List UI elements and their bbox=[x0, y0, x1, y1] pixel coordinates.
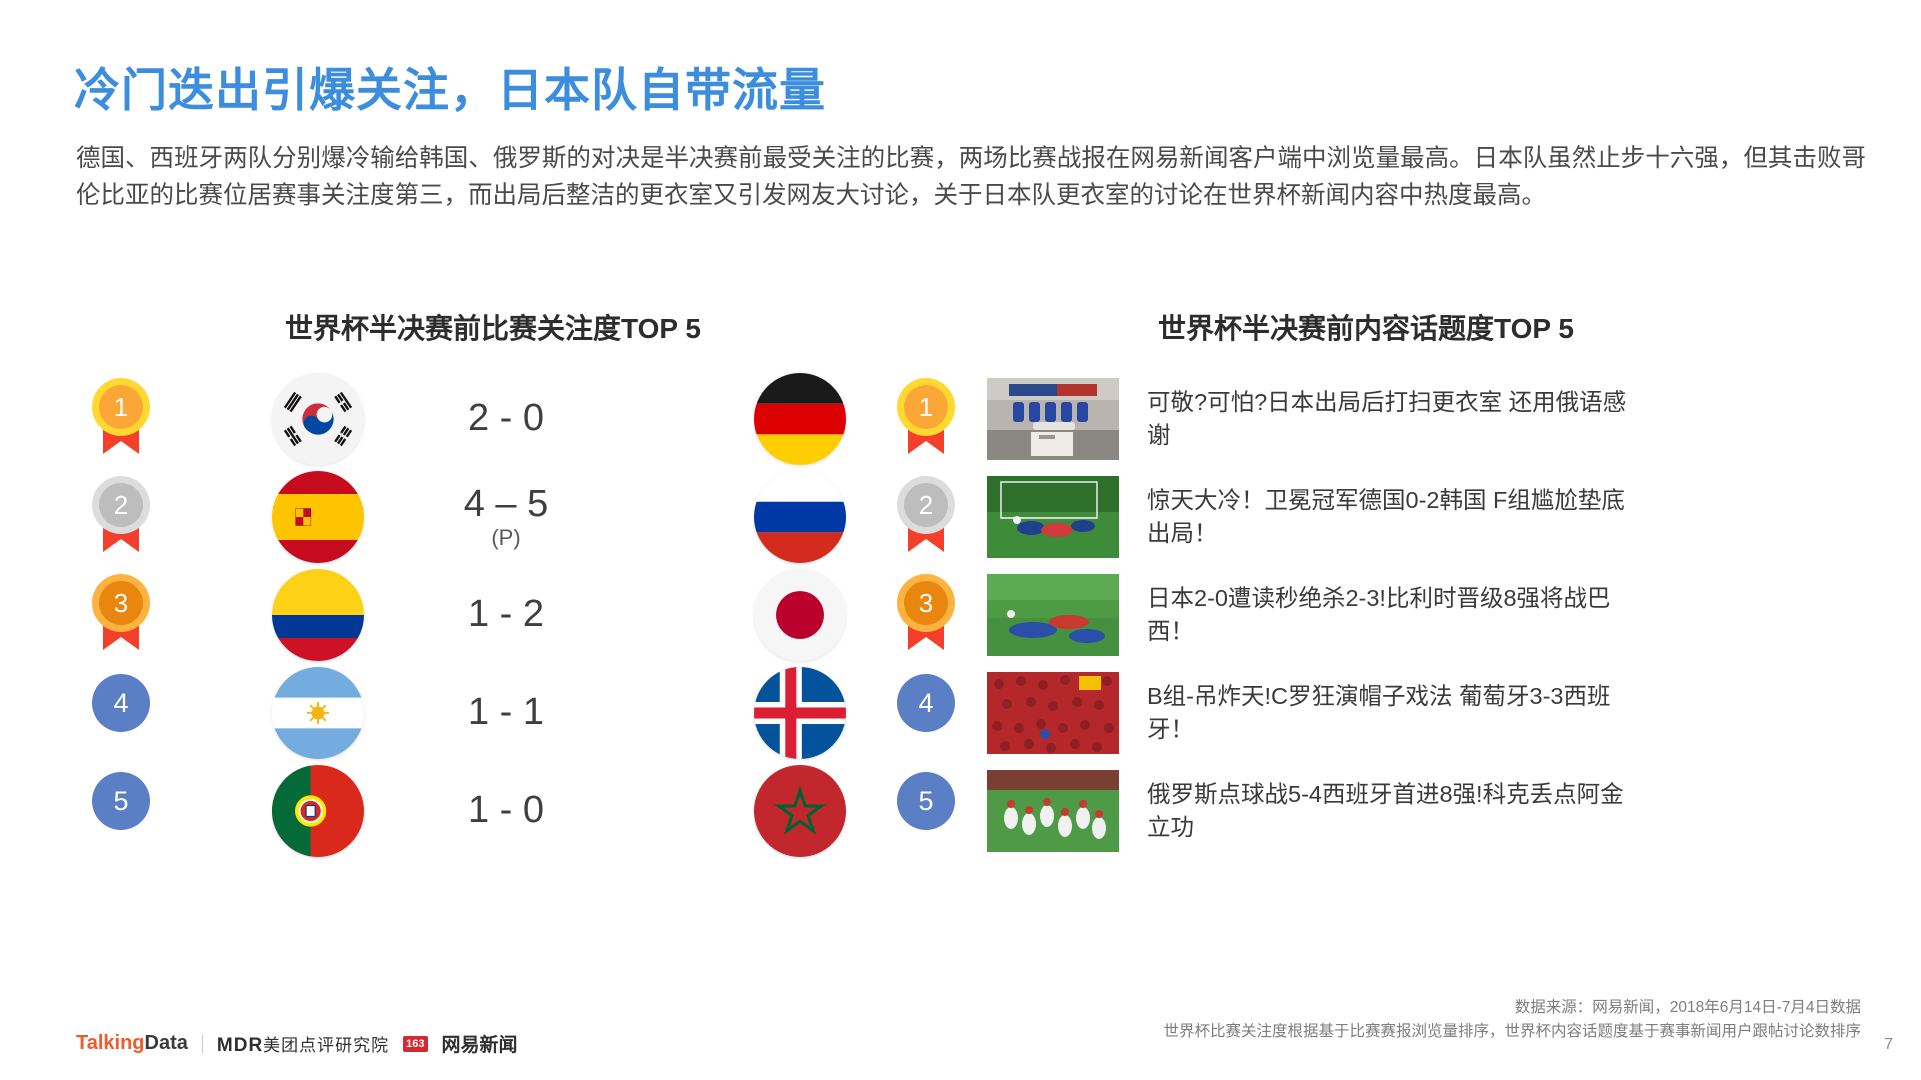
news-row[interactable]: 1 可敬?可怕?日本出局后打扫更衣室 还用俄语感谢 bbox=[895, 370, 1895, 468]
match-rank-badge: 3 bbox=[90, 574, 152, 656]
news-rank-medal-icon: 3 bbox=[897, 574, 955, 632]
news-rank-number: 4 bbox=[904, 681, 948, 725]
match-rank-number: 5 bbox=[99, 779, 143, 823]
news-row[interactable]: 3 日本2-0遭读秒绝杀2-3!比利时晋级8强将战巴西！ bbox=[895, 566, 1895, 664]
news-headline[interactable]: 惊天大冷！卫冕冠军德国0-2韩国 F组尴尬垫底出局！ bbox=[1147, 484, 1647, 550]
flag-japan bbox=[754, 569, 846, 661]
match-row: 4 1 - 1 bbox=[90, 664, 890, 762]
news-headline[interactable]: 可敬?可怕?日本出局后打扫更衣室 还用俄语感谢 bbox=[1147, 386, 1647, 452]
match-rank-number: 1 bbox=[99, 385, 143, 429]
source-line: 数据来源：网易新闻，2018年6月14日-7月4日数据 bbox=[1163, 996, 1861, 1020]
match-rank-number: 3 bbox=[99, 581, 143, 625]
news-rank-medal-icon: 5 bbox=[897, 772, 955, 830]
match-score: 2 - 0 bbox=[406, 399, 606, 439]
news-thumbnail[interactable] bbox=[987, 378, 1119, 460]
page-number: 7 bbox=[1884, 1036, 1893, 1054]
match-rank-medal-icon: 3 bbox=[92, 574, 150, 632]
news-thumbnail[interactable] bbox=[987, 672, 1119, 754]
news-thumbnail[interactable] bbox=[987, 476, 1119, 558]
logo-divider-1 bbox=[202, 1034, 203, 1054]
news-rank-badge: 2 bbox=[895, 476, 957, 558]
flag-portugal bbox=[272, 765, 364, 857]
news-headline[interactable]: 日本2-0遭读秒绝杀2-3!比利时晋级8强将战巴西！ bbox=[1147, 582, 1647, 648]
footer-logos: TalkingData MDR美团点评研究院 163 网易新闻 bbox=[76, 1030, 518, 1057]
news-headline[interactable]: B组-吊炸天!C罗狂演帽子戏法 葡萄牙3-3西班牙！ bbox=[1147, 680, 1647, 746]
left-section-header: 世界杯半决赛前比赛关注度TOP 5 bbox=[285, 307, 701, 347]
netease-badge: 163 bbox=[403, 1036, 427, 1052]
match-rank-badge: 2 bbox=[90, 476, 152, 558]
penalty-note: (P) bbox=[406, 526, 606, 549]
right-section-header: 世界杯半决赛前内容话题度TOP 5 bbox=[1158, 307, 1574, 347]
news-row[interactable]: 4 B组-吊炸天!C罗狂演帽子戏法 葡萄牙3-3西班牙！ bbox=[895, 664, 1895, 762]
flag-germany bbox=[754, 373, 846, 465]
news-rank-medal-icon: 1 bbox=[897, 378, 955, 436]
match-score: 1 - 2 bbox=[406, 595, 606, 635]
news-rank-badge: 4 bbox=[895, 672, 957, 754]
match-rank-medal-icon: 4 bbox=[92, 674, 150, 732]
news-rank-badge: 1 bbox=[895, 378, 957, 460]
news-rank-number: 1 bbox=[904, 385, 948, 429]
match-attention-list: 1 2 - 0 2 4 – 5(P) 3 1 - 2 4 1 - 1 bbox=[90, 370, 890, 860]
news-rank-number: 3 bbox=[904, 581, 948, 625]
talkingdata-logo: TalkingData bbox=[76, 1032, 188, 1055]
match-rank-medal-icon: 1 bbox=[92, 378, 150, 436]
news-row[interactable]: 2 惊天大冷！卫冕冠军德国0-2韩国 F组尴尬垫底出局！ bbox=[895, 468, 1895, 566]
news-headline[interactable]: 俄罗斯点球战5-4西班牙首进8强!科克丢点阿金立功 bbox=[1147, 778, 1647, 844]
match-rank-medal-icon: 2 bbox=[92, 476, 150, 534]
page-title: 冷门迭出引爆关注，日本队自带流量 bbox=[74, 54, 826, 120]
talkingdata-dark: Data bbox=[145, 1032, 188, 1054]
match-rank-medal-icon: 5 bbox=[92, 772, 150, 830]
match-rank-badge: 4 bbox=[90, 672, 152, 754]
flag-korea bbox=[272, 373, 364, 465]
news-thumbnail[interactable] bbox=[987, 574, 1119, 656]
news-rank-number: 5 bbox=[904, 779, 948, 823]
match-rank-badge: 1 bbox=[90, 378, 152, 460]
match-rank-badge: 5 bbox=[90, 770, 152, 852]
match-score: 1 - 0 bbox=[406, 791, 606, 831]
match-rank-number: 2 bbox=[99, 483, 143, 527]
match-row: 1 2 - 0 bbox=[90, 370, 890, 468]
mdr-logo: MDR美团点评研究院 bbox=[217, 1031, 389, 1057]
match-row: 3 1 - 2 bbox=[90, 566, 890, 664]
flag-russia bbox=[754, 471, 846, 563]
method-line: 世界杯比赛关注度根据基于比赛赛报浏览量排序，世界杯内容话题度基于赛事新闻用户跟帖… bbox=[1163, 1020, 1861, 1044]
match-row: 2 4 – 5(P) bbox=[90, 468, 890, 566]
flag-iceland bbox=[754, 667, 846, 759]
flag-argentina bbox=[272, 667, 364, 759]
news-rank-badge: 3 bbox=[895, 574, 957, 656]
netease-logo: 网易新闻 bbox=[442, 1030, 518, 1057]
news-topic-list: 1 可敬?可怕?日本出局后打扫更衣室 还用俄语感谢 2 惊天大冷！卫冕冠军德国0… bbox=[895, 370, 1895, 860]
news-rank-badge: 5 bbox=[895, 770, 957, 852]
news-rank-medal-icon: 4 bbox=[897, 674, 955, 732]
news-rank-medal-icon: 2 bbox=[897, 476, 955, 534]
news-row[interactable]: 5 俄罗斯点球战5-4西班牙首进8强!科克丢点阿金立功 bbox=[895, 762, 1895, 860]
talkingdata-accent: Talking bbox=[76, 1032, 145, 1054]
intro-paragraph: 德国、西班牙两队分别爆冷输给韩国、俄罗斯的对决是半决赛前最受关注的比赛，两场比赛… bbox=[76, 140, 1866, 214]
mdr-subtitle: 美团点评研究院 bbox=[263, 1036, 389, 1055]
mdr-mark: MDR bbox=[217, 1035, 263, 1056]
news-thumbnail[interactable] bbox=[987, 770, 1119, 852]
news-rank-number: 2 bbox=[904, 483, 948, 527]
flag-colombia bbox=[272, 569, 364, 661]
match-score: 1 - 1 bbox=[406, 693, 606, 733]
flag-morocco bbox=[754, 765, 846, 857]
match-score: 4 – 5(P) bbox=[406, 485, 606, 550]
flag-spain bbox=[272, 471, 364, 563]
footer-note: 数据来源：网易新闻，2018年6月14日-7月4日数据 世界杯比赛关注度根据基于… bbox=[1163, 996, 1861, 1044]
match-rank-number: 4 bbox=[99, 681, 143, 725]
match-row: 5 1 - 0 bbox=[90, 762, 890, 860]
